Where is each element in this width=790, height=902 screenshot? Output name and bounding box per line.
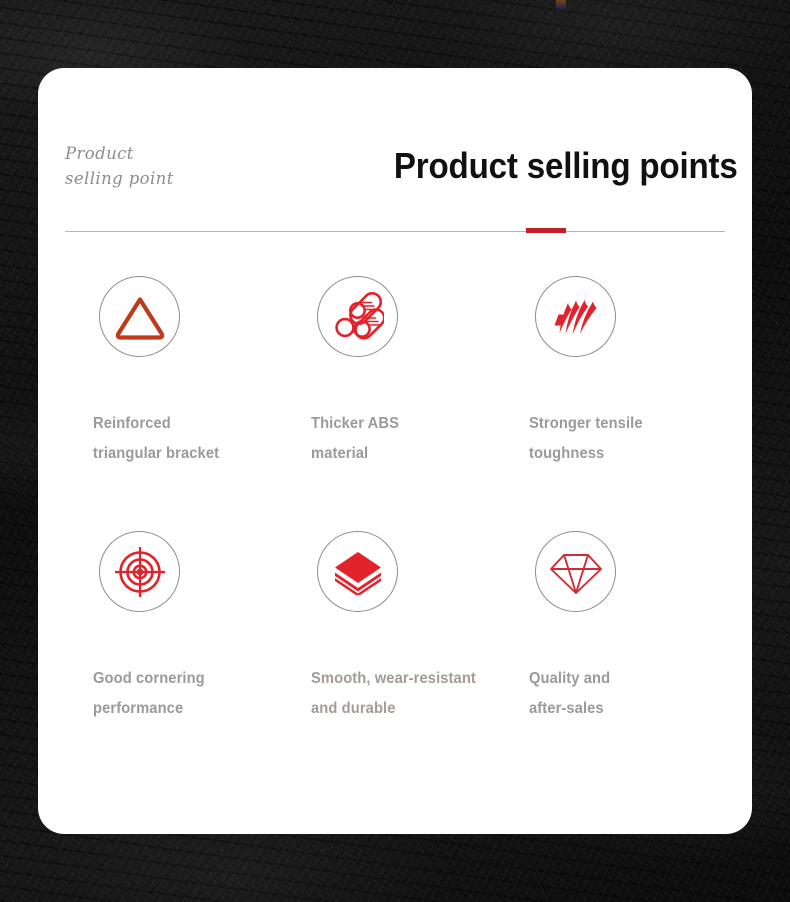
feature-item: Reinforced triangular bracket (54, 268, 272, 523)
page-background: Product selling point Product selling po… (0, 0, 790, 902)
feature-label: Reinforced triangular bracket (93, 409, 274, 469)
diamond-gem-icon (548, 547, 604, 597)
feature-icon-circle (535, 276, 616, 357)
feature-icon-circle (99, 276, 180, 357)
feature-icon-circle (317, 276, 398, 357)
target-crosshair-icon (113, 545, 167, 599)
feature-label: Stronger tensile toughness (529, 409, 710, 469)
feature-grid: Reinforced triangular bracket (38, 268, 752, 778)
feature-item: Stronger tensile toughness (490, 268, 708, 523)
top-edge-artifact (556, 0, 566, 11)
feature-label: Smooth, wear-resistant and durable (311, 664, 492, 724)
feature-label: Good cornering performance (93, 664, 274, 724)
header-divider-accent (526, 228, 566, 233)
flame-strokes-icon (550, 292, 602, 342)
feature-item: Good cornering performance (54, 523, 272, 778)
stacked-layers-icon (331, 549, 385, 595)
feature-icon-circle (99, 531, 180, 612)
feature-icon-circle (317, 531, 398, 612)
feature-label: Quality and after-sales (529, 664, 710, 724)
feature-item: Smooth, wear-resistant and durable (272, 523, 490, 778)
feature-item: Thicker ABS material (272, 268, 490, 523)
rounded-triangle-icon (113, 293, 167, 341)
feature-label: Thicker ABS material (311, 409, 492, 469)
stacked-logs-icon (332, 291, 384, 343)
card-header: Product selling point Product selling po… (38, 68, 752, 240)
product-selling-points-card: Product selling point Product selling po… (38, 68, 752, 834)
feature-item: Quality and after-sales (490, 523, 708, 778)
script-subtitle: Product selling point (65, 141, 315, 191)
page-title: Product selling points (394, 146, 738, 186)
header-divider (65, 231, 725, 232)
feature-icon-circle (535, 531, 616, 612)
